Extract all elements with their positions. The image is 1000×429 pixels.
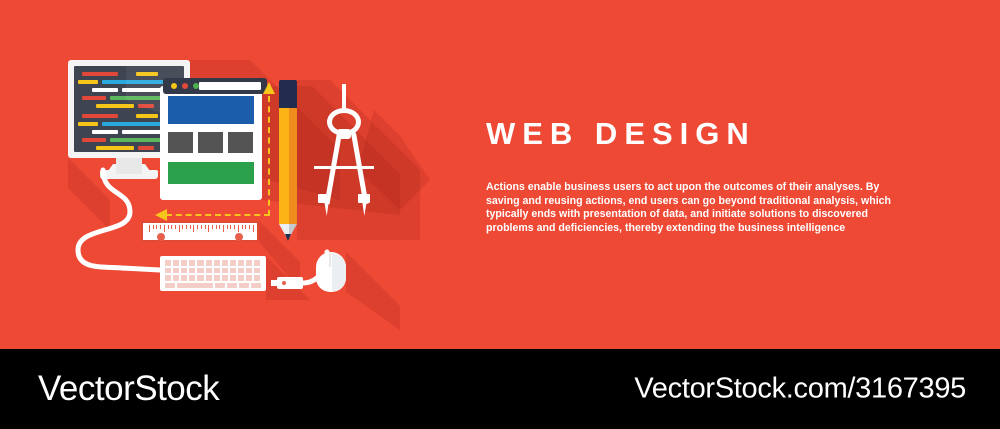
keyboard-spacebar	[177, 283, 213, 289]
ruler-tick	[160, 225, 161, 229]
code-line	[92, 130, 118, 134]
keyboard-key	[173, 275, 179, 281]
keyboard-key	[238, 268, 244, 274]
keyboard-key	[254, 260, 260, 266]
browser-title-bar[interactable]	[163, 78, 267, 94]
keyboard-key	[181, 260, 187, 266]
ruler-tick	[208, 225, 209, 232]
keyboard-key	[254, 275, 260, 281]
keyboard-icon	[160, 256, 266, 291]
ruler-tick	[149, 225, 150, 232]
ruler-hole	[235, 233, 243, 241]
keyboard-key	[206, 260, 212, 266]
keyboard-key	[165, 275, 171, 281]
browser-footer-bar	[168, 162, 254, 184]
ruler-tick	[245, 225, 246, 229]
ruler-tick	[201, 225, 202, 229]
banner-canvas: WEB DESIGN Actions enable business users…	[0, 0, 1000, 429]
ruler-hole	[157, 233, 165, 241]
keyboard-key	[165, 283, 175, 289]
usb-connector	[277, 277, 303, 289]
browser-window[interactable]	[160, 86, 262, 200]
usb-indicator	[282, 281, 286, 285]
keyboard-key	[238, 260, 244, 266]
ruler-tick	[230, 225, 231, 229]
keyboard-key	[238, 275, 244, 281]
ruler-tick	[234, 225, 235, 229]
illustration-group	[0, 0, 470, 349]
ruler-tick	[212, 225, 213, 229]
ruler-tick	[219, 225, 220, 229]
keyboard-key	[222, 260, 228, 266]
ruler-tick	[216, 225, 217, 229]
keyboard-key	[215, 283, 225, 289]
keyboard-key	[214, 260, 220, 266]
keyboard-key	[239, 283, 249, 289]
keyboard-key	[165, 260, 171, 266]
browser-content-box	[198, 132, 223, 153]
keyboard-key	[222, 268, 228, 274]
keyboard-key	[246, 268, 252, 274]
horizontal-measure-guide	[166, 214, 270, 216]
ruler-tick	[175, 225, 176, 229]
ruler-tick	[242, 225, 243, 229]
compass-hinge	[337, 129, 351, 139]
keyboard-key	[173, 260, 179, 266]
ruler-tick	[253, 225, 254, 232]
ruler-tick	[182, 225, 183, 229]
ruler-icon	[141, 221, 259, 242]
keyboard-key	[251, 283, 261, 289]
ruler-tick	[197, 225, 198, 229]
window-dot-yellow-icon[interactable]	[171, 83, 177, 89]
ruler-tick	[190, 225, 191, 229]
ruler-tick	[156, 225, 157, 229]
ruler-tick	[238, 225, 239, 232]
keyboard-key	[197, 260, 203, 266]
ruler-tick	[193, 225, 194, 232]
pencil-lead	[285, 234, 291, 241]
keyboard-key	[246, 275, 252, 281]
mouse-button-split	[329, 253, 331, 267]
keyboard-key	[227, 283, 237, 289]
keyboard-key	[254, 268, 260, 274]
keyboard-key	[189, 275, 195, 281]
browser-content-box	[168, 132, 193, 153]
ruler-tick	[171, 225, 172, 229]
keyboard-key	[230, 260, 236, 266]
keyboard-key	[206, 268, 212, 274]
ruler-tick	[205, 225, 206, 229]
keyboard-key	[230, 275, 236, 281]
code-line	[82, 72, 118, 76]
code-line	[78, 122, 98, 126]
browser-hero-banner	[168, 96, 254, 124]
ruler-tick	[164, 225, 165, 232]
monitor-neck	[116, 158, 142, 174]
ruler-tick	[153, 225, 154, 229]
keyboard-key	[173, 268, 179, 274]
arrow-up-icon	[263, 82, 275, 94]
ruler-tick	[223, 225, 224, 232]
keyboard-key	[230, 268, 236, 274]
ruler-tick	[186, 225, 187, 229]
browser-content-box	[228, 132, 253, 153]
body-paragraph: Actions enable business users to act upo…	[486, 149, 904, 235]
ruler-tick	[227, 225, 228, 229]
keyboard-key	[197, 268, 203, 274]
keyboard-key	[214, 268, 220, 274]
ruler-tick	[179, 225, 180, 232]
pencil-body	[279, 108, 297, 224]
brand-wordmark: VectorStock	[38, 369, 219, 409]
code-line	[78, 80, 98, 84]
window-dot-red-icon[interactable]	[182, 83, 188, 89]
code-line	[92, 88, 118, 92]
code-line	[82, 114, 118, 118]
ruler-tick	[168, 225, 169, 229]
code-line	[82, 96, 106, 100]
compass-pen-tip	[362, 200, 367, 216]
browser-address-bar[interactable]	[199, 82, 261, 90]
keyboard-key	[246, 260, 252, 266]
keyboard-key	[189, 268, 195, 274]
code-line	[82, 138, 106, 142]
page-title: WEB DESIGN	[486, 118, 906, 149]
vertical-measure-guide	[268, 96, 270, 216]
compass-needle	[324, 200, 329, 216]
keyboard-key	[189, 260, 195, 266]
keyboard-key	[165, 268, 171, 274]
copy-block: WEB DESIGN Actions enable business users…	[486, 118, 906, 235]
brand-url: VectorStock.com/3167395	[634, 373, 966, 406]
keyboard-key	[222, 275, 228, 281]
pencil-ferrule	[279, 80, 297, 108]
compass-crossbar	[314, 166, 374, 169]
keyboard-key	[181, 268, 187, 274]
arrow-left-icon	[155, 209, 167, 221]
watermark-footer: VectorStock VectorStock.com/3167395	[0, 349, 1000, 429]
keyboard-key	[206, 275, 212, 281]
keyboard-key	[197, 275, 203, 281]
keyboard-key	[214, 275, 220, 281]
keyboard-key	[181, 275, 187, 281]
ruler-tick	[249, 225, 250, 229]
